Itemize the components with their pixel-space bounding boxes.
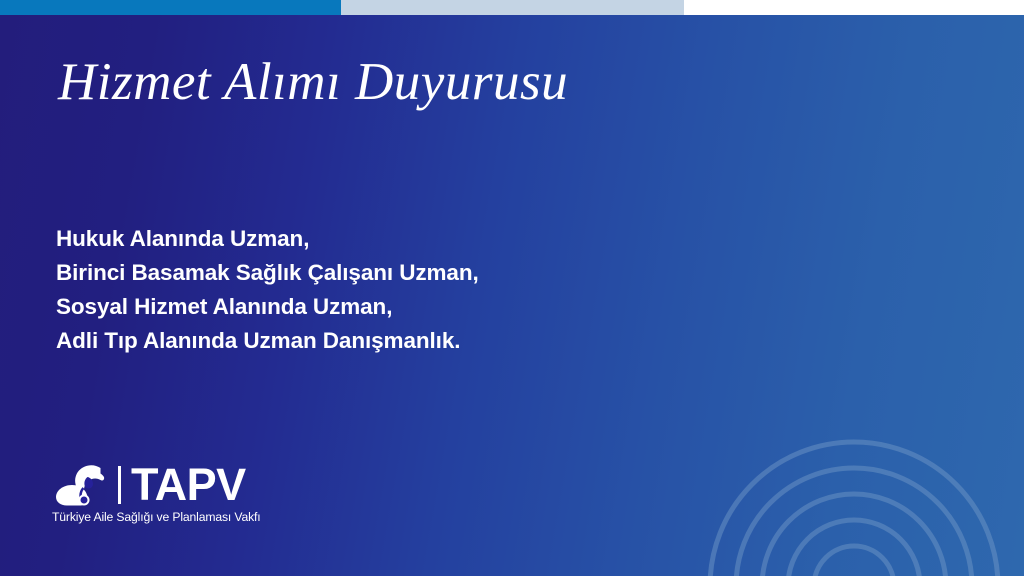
body-text-block: Hukuk Alanında Uzman, Birinci Basamak Sa… [56,222,479,358]
body-line: Birinci Basamak Sağlık Çalışanı Uzman, [56,256,479,290]
logo-tagline: Türkiye Aile Sağlığı ve Planlaması Vakfı [52,510,261,524]
logo-divider [118,466,121,504]
top-bar-segment-white [684,0,1024,15]
page-title: Hizmet Alımı Duyurusu [58,52,568,113]
mother-and-child-icon [52,463,110,507]
body-line: Adli Tıp Alanında Uzman Danışmanlık. [56,324,479,358]
top-bar-segment-light-blue [341,0,684,15]
top-accent-bar [0,0,1024,15]
concentric-rings-decoration [644,376,1024,576]
tapv-logo: TAPV Türkiye Aile Sağlığı ve Planlaması … [52,463,261,524]
top-bar-segment-blue [0,0,341,15]
logo-row: TAPV [52,463,246,507]
slide-canvas: Hizmet Alımı Duyurusu Hukuk Alanında Uzm… [0,0,1024,576]
logo-wordmark: TAPV [131,463,246,507]
body-line: Hukuk Alanında Uzman, [56,222,479,256]
body-line: Sosyal Hizmet Alanında Uzman, [56,290,479,324]
